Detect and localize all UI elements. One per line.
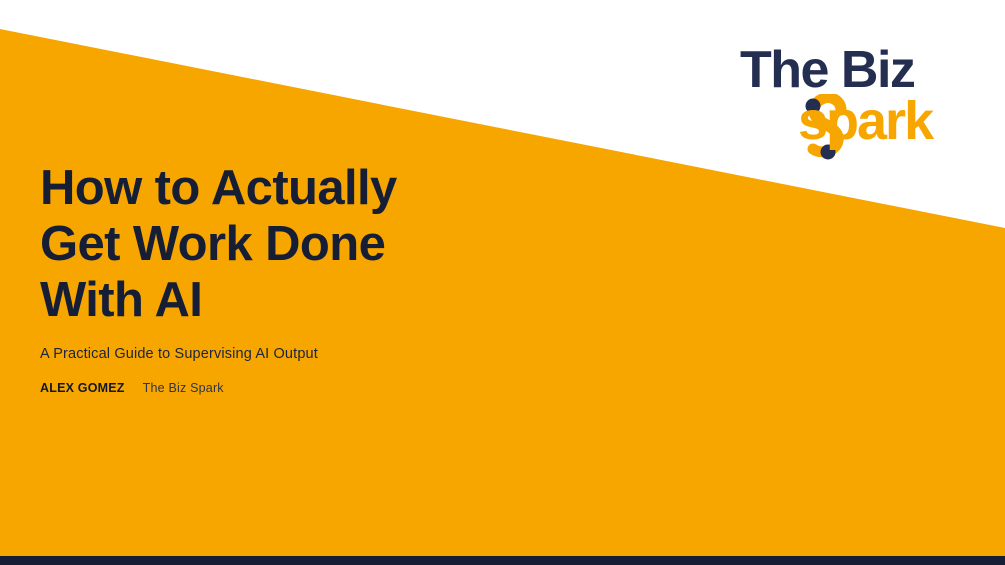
- logo-wordmark-spark: spark: [798, 94, 932, 148]
- title-content-block: How to Actually Get Work Done With AI A …: [40, 160, 560, 395]
- byline-author: ALEX GOMEZ: [40, 381, 125, 395]
- logo-wordmark-the-biz: The Biz: [740, 44, 914, 96]
- bottom-accent-bar: [0, 556, 1005, 565]
- byline-organization: The Biz Spark: [143, 381, 224, 395]
- subtitle: A Practical Guide to Supervising AI Outp…: [40, 346, 560, 362]
- brand-logo: The Biz spark: [735, 44, 975, 162]
- byline: ALEX GOMEZ The Biz Spark: [40, 381, 560, 395]
- page-title: How to Actually Get Work Done With AI: [40, 160, 560, 328]
- title-slide: The Biz spark How to Actually Get Work D…: [0, 0, 1005, 565]
